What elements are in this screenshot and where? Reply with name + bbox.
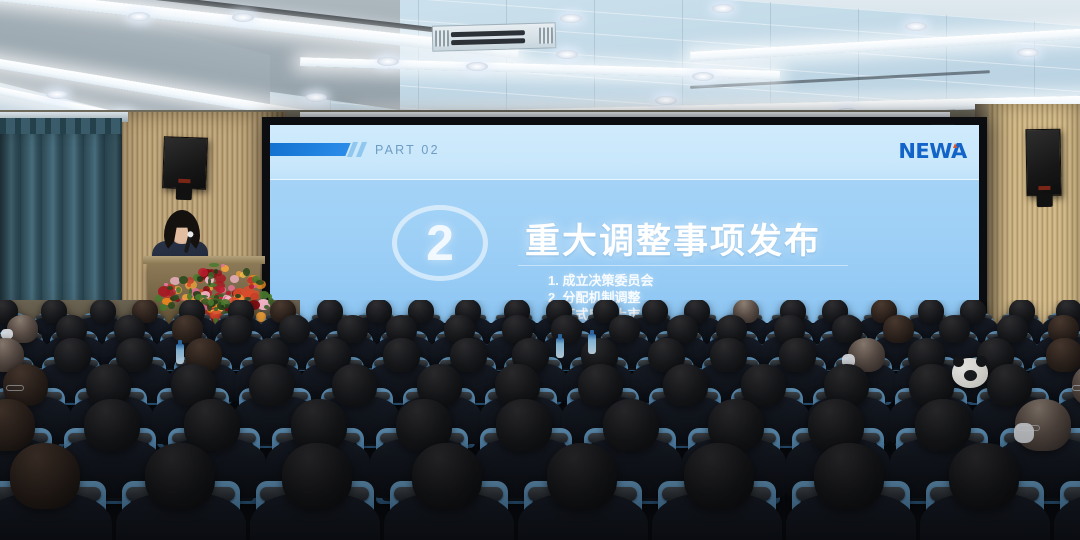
- ceiling-downlight-icon: [560, 14, 582, 23]
- audience-head: [496, 399, 552, 451]
- foliage-leaf: [209, 263, 219, 267]
- audience-area: [0, 300, 1080, 540]
- audience-head: [578, 364, 623, 406]
- audience-head: [939, 315, 970, 343]
- audience-head: [450, 338, 487, 372]
- face-mask-icon: [1014, 423, 1034, 443]
- audience-head: [184, 399, 240, 451]
- ceiling-downlight-icon: [232, 13, 254, 22]
- foliage-leaf: [235, 294, 241, 298]
- eyeglasses-icon: [1072, 385, 1080, 391]
- audience-head: [383, 338, 420, 372]
- audience-head: [710, 338, 747, 372]
- water-bottle-icon: [556, 338, 564, 358]
- slide-part-label: PART 02: [375, 143, 440, 157]
- audience-head: [54, 338, 91, 372]
- eyeglasses-icon: [6, 385, 25, 391]
- flower-blossom: [221, 264, 225, 267]
- audience-head: [949, 443, 1019, 509]
- ceiling-downlight-icon: [305, 93, 327, 102]
- audience-head: [741, 364, 786, 406]
- water-bottle-icon: [176, 344, 184, 364]
- newa-logo: NEWA: [898, 139, 966, 163]
- slide-title: 重大调整事项发布: [525, 213, 821, 264]
- audience-head: [332, 364, 377, 406]
- audience-head: [249, 364, 294, 406]
- ceiling-downlight-icon: [1017, 48, 1039, 57]
- audience-head: [84, 399, 140, 451]
- audience-head: [684, 443, 754, 509]
- slide-slash-icon: [356, 142, 367, 157]
- audience-head: [779, 338, 816, 372]
- audience-head: [145, 443, 215, 509]
- panda-hair-clip-icon: [952, 358, 988, 388]
- audience-head: [412, 443, 482, 509]
- foliage-leaf: [167, 286, 173, 290]
- ceiling-downlight-icon: [128, 12, 150, 21]
- audience-head: [10, 443, 80, 509]
- foliage-leaf: [208, 278, 211, 284]
- ceiling-downlight-icon: [556, 50, 578, 59]
- audience-head: [915, 399, 971, 451]
- slide-bullet-item: 1. 成立决策委员会: [548, 272, 653, 289]
- audience-head: [663, 364, 708, 406]
- curtain-pleat-header: [0, 118, 122, 134]
- audience-head: [221, 315, 252, 343]
- flower-blossom: [228, 285, 235, 291]
- ceiling-ac-vent-icon: [432, 22, 557, 51]
- foliage-leaf: [243, 268, 250, 276]
- presentation-slide[interactable]: PART 02 NEWA 2 重大调整事项发布 1. 成立决策委员会2. 分配机…: [270, 125, 979, 323]
- audience-head: [603, 399, 659, 451]
- ceiling-downlight-icon: [712, 4, 734, 13]
- foliage-leaf: [268, 294, 272, 299]
- wall-speaker-icon: [1025, 129, 1061, 197]
- ceiling-downlight-icon: [655, 96, 677, 105]
- flower-blossom: [249, 284, 254, 288]
- audience-head: [642, 300, 668, 323]
- audience-head: [282, 443, 352, 509]
- slide-section-number: 2: [392, 205, 488, 281]
- foliage-leaf: [197, 276, 203, 281]
- audience-head: [547, 443, 617, 509]
- ceiling-downlight-icon: [46, 90, 68, 99]
- ceiling-downlight-icon: [692, 72, 714, 81]
- newa-logo-text: NEWA: [898, 139, 966, 163]
- ceiling-downlight-icon: [905, 22, 927, 31]
- ceiling-downlight-icon: [377, 57, 399, 66]
- audience-head: [609, 315, 640, 343]
- slide-title-divider: [518, 265, 848, 266]
- audience-head: [279, 315, 310, 343]
- audience-head: [883, 315, 914, 343]
- flower-blossom: [187, 283, 192, 287]
- water-bottle-icon: [588, 334, 596, 354]
- wall-speaker-icon: [162, 136, 208, 190]
- foliage-leaf: [214, 269, 218, 273]
- flower-blossom: [216, 286, 224, 293]
- audience-head: [987, 364, 1032, 406]
- conference-room-photo: PART 02 NEWA 2 重大调整事项发布 1. 成立决策委员会2. 分配机…: [0, 0, 1080, 540]
- slide-accent-bar: [270, 143, 351, 156]
- foliage-leaf: [187, 293, 191, 300]
- audience-head: [918, 300, 944, 323]
- audience-head: [90, 300, 116, 323]
- ceiling: [0, 0, 1080, 128]
- slide-header: PART 02 NEWA: [270, 125, 979, 180]
- audience-head: [814, 443, 884, 509]
- ceiling-downlight-icon: [466, 62, 488, 71]
- audience-head: [1046, 338, 1080, 372]
